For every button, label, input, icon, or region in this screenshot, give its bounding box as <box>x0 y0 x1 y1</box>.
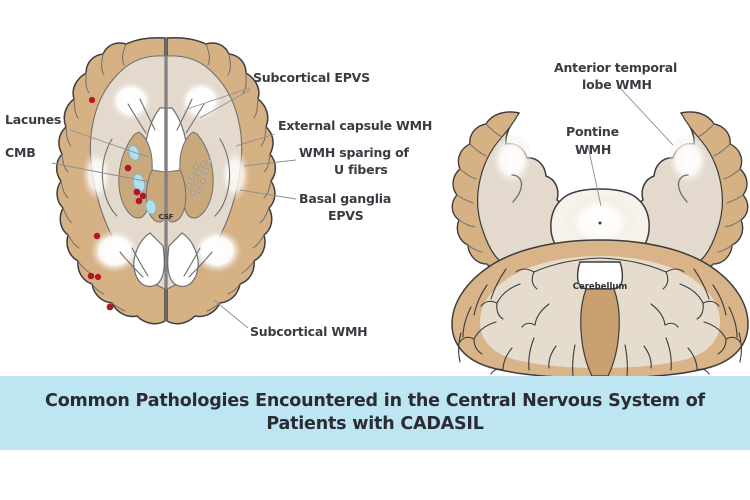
callout-cmb: CMB <box>5 145 36 160</box>
cerebellar-vermis <box>581 289 620 376</box>
wmh-anterior-left <box>109 80 153 122</box>
cmb-dot <box>125 165 132 172</box>
cerebellum-label: Cerebellum <box>573 282 628 292</box>
callout-pontine-line1: Pontine <box>566 124 619 139</box>
cmb-dot <box>88 273 95 280</box>
callout-subcortical-epvs: Subcortical EPVS <box>253 70 370 85</box>
callout-wmh-sparing-line2: U fibers <box>334 162 388 177</box>
cmb-dot <box>89 97 95 103</box>
brain-pathology-figure: CSF Lacunes CMB Subcortical EPVS Externa… <box>0 0 750 500</box>
callout-basal-ganglia-line1: Basal ganglia <box>299 191 391 206</box>
wmh-right-temporal <box>667 134 709 186</box>
callout-external-capsule-wmh: External capsule WMH <box>278 118 432 133</box>
axial-brain-section: CSF Lacunes CMB Subcortical EPVS Externa… <box>5 38 432 339</box>
cmb-dot <box>134 189 141 196</box>
callout-basal-ganglia-line2: EPVS <box>328 208 364 223</box>
brain-diagram-svg: CSF Lacunes CMB Subcortical EPVS Externa… <box>0 0 750 376</box>
caption-banner: Common Pathologies Encountered in the Ce… <box>0 376 750 450</box>
cmb-dot <box>95 274 101 280</box>
callout-wmh-sparing-line1: WMH sparing of <box>299 145 409 160</box>
wmh-lateral-right <box>220 149 250 201</box>
wmh-left-temporal <box>491 134 533 186</box>
wmh-lateral-left <box>82 149 112 201</box>
callout-anterior-temporal-line1: Anterior temporal <box>554 60 677 75</box>
csf-label: CSF <box>158 213 173 221</box>
caption-line-2: Patients with CADASIL <box>266 414 483 434</box>
callout-subcortical-wmh: Subcortical WMH <box>250 324 367 339</box>
leader-subcort-wmh <box>214 300 248 328</box>
callout-anterior-temporal-line2: lobe WMH <box>582 77 652 92</box>
cmb-dot <box>136 198 143 205</box>
wmh-anterior-right <box>179 80 223 122</box>
callout-pontine-line2: WMH <box>575 142 611 157</box>
callout-lacunes: Lacunes <box>5 112 61 127</box>
cmb-dot <box>94 233 100 239</box>
leader-anterior-temporal-wmh <box>620 88 673 145</box>
pontine-midline-dot <box>599 222 602 225</box>
cmb-dot <box>107 304 114 311</box>
caption-line-1: Common Pathologies Encountered in the Ce… <box>45 391 705 411</box>
caption-text: Common Pathologies Encountered in the Ce… <box>25 390 725 436</box>
infratentorial-brain-section: Cerebellum Anterior temporal lobe WMH Po… <box>452 60 748 376</box>
